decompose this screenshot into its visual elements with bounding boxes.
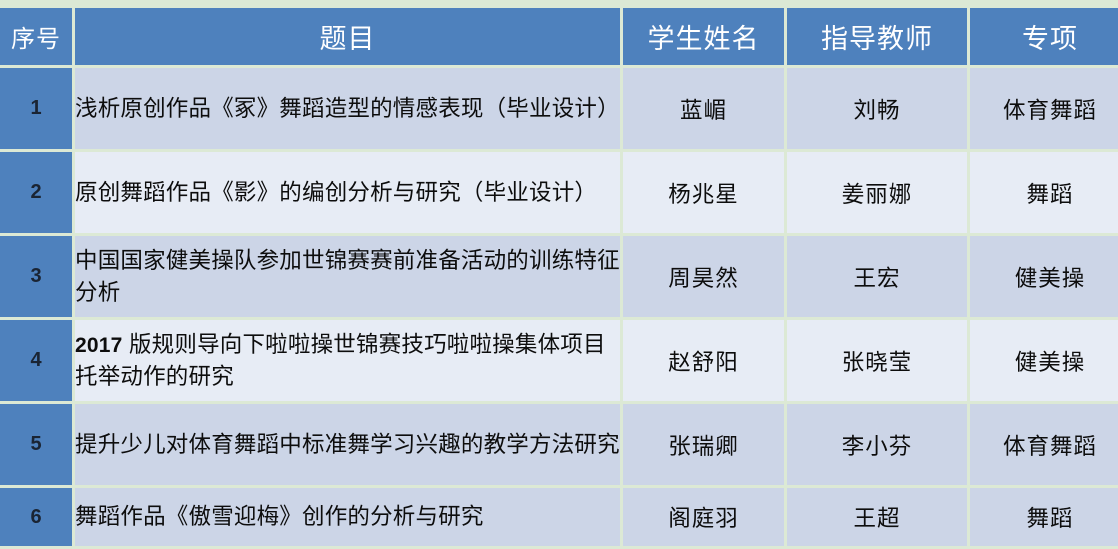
cell-seq: 6 [0, 488, 72, 546]
cell-student: 杨兆星 [623, 152, 784, 233]
cell-teacher: 王超 [787, 488, 967, 546]
cell-teacher: 张晓莹 [787, 320, 967, 401]
column-header-title: 题目 [75, 8, 620, 65]
cell-teacher: 王宏 [787, 236, 967, 317]
cell-seq: 1 [0, 68, 72, 149]
cell-specialty: 体育舞蹈 [970, 68, 1118, 149]
cell-specialty: 体育舞蹈 [970, 404, 1118, 485]
cell-teacher: 李小芬 [787, 404, 967, 485]
cell-seq: 5 [0, 404, 72, 485]
table-row: 1 浅析原创作品《冢》舞蹈造型的情感表现（毕业设计） 蓝嵋 刘畅 体育舞蹈 [0, 68, 1118, 149]
column-header-specialty: 专项 [970, 8, 1118, 65]
header-row: 序号 题目 学生姓名 指导教师 专项 [0, 8, 1118, 65]
cell-specialty: 舞蹈 [970, 152, 1118, 233]
thesis-topic-table: 序号 题目 学生姓名 指导教师 专项 1 浅析原创作品《冢》舞蹈造型的情感表现（… [0, 5, 1118, 549]
table-row: 4 2017 版规则导向下啦啦操世锦赛技巧啦啦操集体项目托举动作的研究 赵舒阳 … [0, 320, 1118, 401]
table-row: 6 舞蹈作品《傲雪迎梅》创作的分析与研究 阁庭羽 王超 舞蹈 [0, 488, 1118, 546]
column-header-seq: 序号 [0, 8, 72, 65]
cell-title-year: 2017 [75, 334, 123, 357]
cell-title: 提升少儿对体育舞蹈中标准舞学习兴趣的教学方法研究 [75, 404, 620, 485]
cell-seq: 3 [0, 236, 72, 317]
table-row: 5 提升少儿对体育舞蹈中标准舞学习兴趣的教学方法研究 张瑞卿 李小芬 体育舞蹈 [0, 404, 1118, 485]
column-header-teacher: 指导教师 [787, 8, 967, 65]
cell-student: 阁庭羽 [623, 488, 784, 546]
cell-specialty: 舞蹈 [970, 488, 1118, 546]
cell-student: 蓝嵋 [623, 68, 784, 149]
table-body: 1 浅析原创作品《冢》舞蹈造型的情感表现（毕业设计） 蓝嵋 刘畅 体育舞蹈 2 … [0, 68, 1118, 546]
cell-teacher: 刘畅 [787, 68, 967, 149]
table-row: 2 原创舞蹈作品《影》的编创分析与研究（毕业设计） 杨兆星 姜丽娜 舞蹈 [0, 152, 1118, 233]
table-row: 3 中国国家健美操队参加世锦赛赛前准备活动的训练特征分析 周昊然 王宏 健美操 [0, 236, 1118, 317]
cell-student: 赵舒阳 [623, 320, 784, 401]
cell-student: 张瑞卿 [623, 404, 784, 485]
cell-seq: 4 [0, 320, 72, 401]
cell-title: 浅析原创作品《冢》舞蹈造型的情感表现（毕业设计） [75, 68, 620, 149]
cell-teacher: 姜丽娜 [787, 152, 967, 233]
table-header: 序号 题目 学生姓名 指导教师 专项 [0, 8, 1118, 65]
table-container: 序号 题目 学生姓名 指导教师 专项 1 浅析原创作品《冢》舞蹈造型的情感表现（… [0, 8, 1114, 532]
cell-specialty: 健美操 [970, 320, 1118, 401]
cell-title: 舞蹈作品《傲雪迎梅》创作的分析与研究 [75, 488, 620, 546]
cell-specialty: 健美操 [970, 236, 1118, 317]
cell-student: 周昊然 [623, 236, 784, 317]
cell-title: 2017 版规则导向下啦啦操世锦赛技巧啦啦操集体项目托举动作的研究 [75, 320, 620, 401]
cell-title-text: 版规则导向下啦啦操世锦赛技巧啦啦操集体项目托举动作的研究 [75, 332, 606, 389]
cell-title: 中国国家健美操队参加世锦赛赛前准备活动的训练特征分析 [75, 236, 620, 317]
cell-title: 原创舞蹈作品《影》的编创分析与研究（毕业设计） [75, 152, 620, 233]
cell-seq: 2 [0, 152, 72, 233]
column-header-student: 学生姓名 [623, 8, 784, 65]
